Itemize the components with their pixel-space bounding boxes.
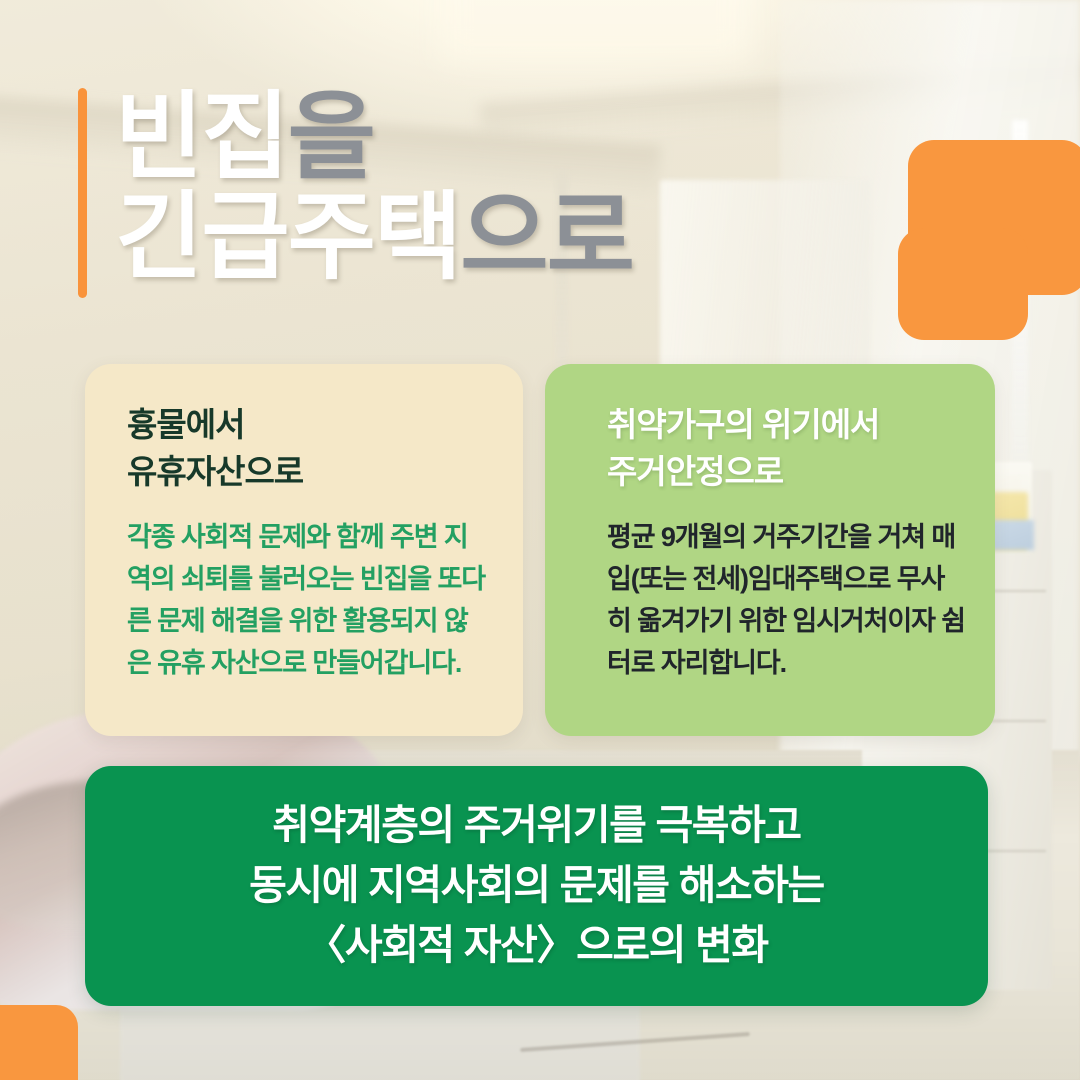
card-heading: 흉물에서 유휴자산으로 <box>127 402 485 496</box>
title-line-1: 빈집을 <box>115 88 633 188</box>
card-heading: 취약가구의 위기에서 주거안정으로 <box>607 402 965 496</box>
poster-canvas: 빈집을 긴급주택으로 흉물에서 유휴자산으로 각종 사회적 문제와 함께 주변 … <box>0 0 1080 1080</box>
banner-line-1: 취약계층의 주거위기를 극복하고 <box>272 796 800 856</box>
card-content: 취약가구의 위기에서 주거안정으로 평균 9개월의 거주기간을 거쳐 매입(또는… <box>545 364 995 684</box>
title-line-1-soft: 을 <box>288 84 374 191</box>
card-heading-line-1: 흉물에서 <box>127 402 485 449</box>
title-line-1-strong: 빈집 <box>115 84 288 191</box>
title-line-2-soft: 으로 <box>460 184 633 291</box>
info-card-idle-asset: 흉물에서 유휴자산으로 각종 사회적 문제와 함께 주변 지역의 쇠퇴를 불러오… <box>85 364 523 736</box>
card-content: 흉물에서 유휴자산으로 각종 사회적 문제와 함께 주변 지역의 쇠퇴를 불러오… <box>85 364 523 684</box>
card-heading-line-2: 주거안정으로 <box>607 449 965 496</box>
poster-title: 빈집을 긴급주택으로 <box>78 88 633 298</box>
card-heading-line-1: 취약가구의 위기에서 <box>607 402 965 449</box>
title-lines: 빈집을 긴급주택으로 <box>115 88 633 288</box>
card-body-text: 각종 사회적 문제와 함께 주변 지역의 쇠퇴를 불러오는 빈집을 또다른 문제… <box>127 516 485 684</box>
title-line-2: 긴급주택으로 <box>115 188 633 288</box>
info-card-housing-stability: 취약가구의 위기에서 주거안정으로 평균 9개월의 거주기간을 거쳐 매입(또는… <box>545 364 995 736</box>
card-heading-line-2: 유휴자산으로 <box>127 449 485 496</box>
summary-banner: 취약계층의 주거위기를 극복하고 동시에 지역사회의 문제를 해소하는 〈사회적… <box>85 766 988 1006</box>
banner-line-2: 동시에 지역사회의 문제를 해소하는 <box>249 856 824 916</box>
banner-line-3: 〈사회적 자산〉으로의 변화 <box>305 916 767 976</box>
orange-square-bottom-left <box>0 1005 78 1080</box>
title-accent-bar <box>78 88 87 298</box>
card-body-text: 평균 9개월의 거주기간을 거쳐 매입(또는 전세)임대주택으로 무사히 옮겨가… <box>607 516 965 684</box>
orange-square-top-right-lower <box>898 228 1028 340</box>
title-line-2-strong: 긴급주택 <box>115 184 460 291</box>
